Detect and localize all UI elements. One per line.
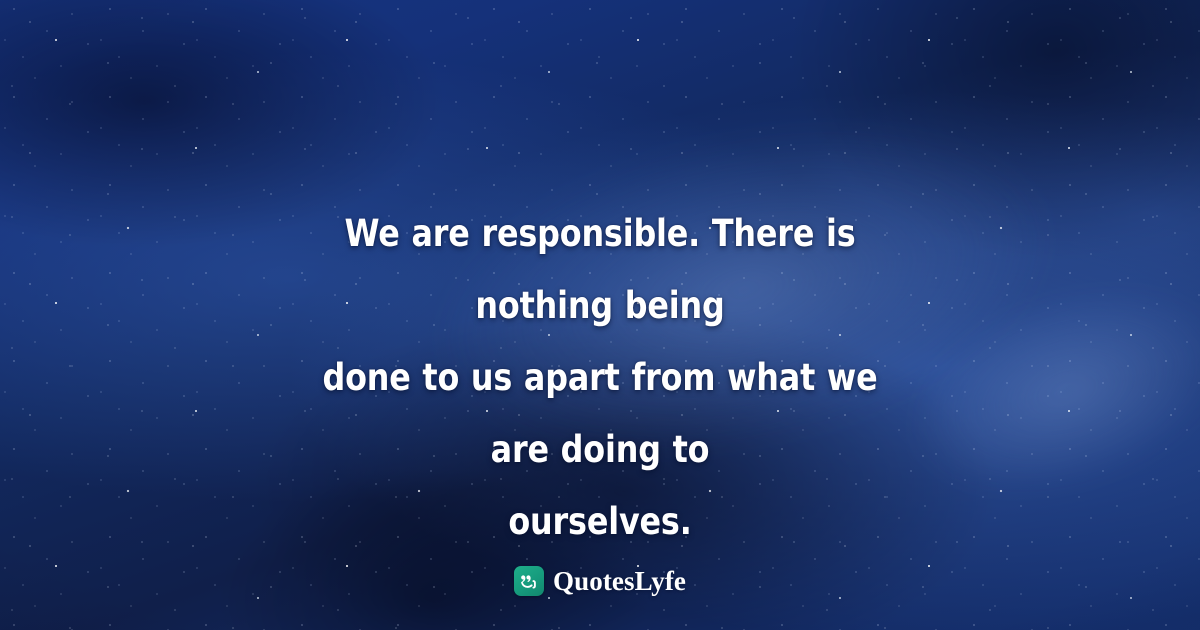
quote-card: We are responsible. There is nothing bei… — [0, 0, 1200, 630]
quote-block: We are responsible. There is nothing bei… — [240, 198, 960, 558]
quote-line-3: ourselves. — [290, 486, 909, 558]
quote-line-1: We are responsible. There is nothing bei… — [290, 198, 909, 342]
logo-wordmark: QuotesLyfe — [553, 568, 686, 595]
quote-line-2: done to us apart from what we are doing … — [290, 342, 909, 486]
quote-smiley-icon — [514, 566, 544, 596]
quoteslyfe-logo[interactable]: QuotesLyfe — [514, 566, 686, 596]
card-content: We are responsible. There is nothing bei… — [0, 0, 1200, 630]
